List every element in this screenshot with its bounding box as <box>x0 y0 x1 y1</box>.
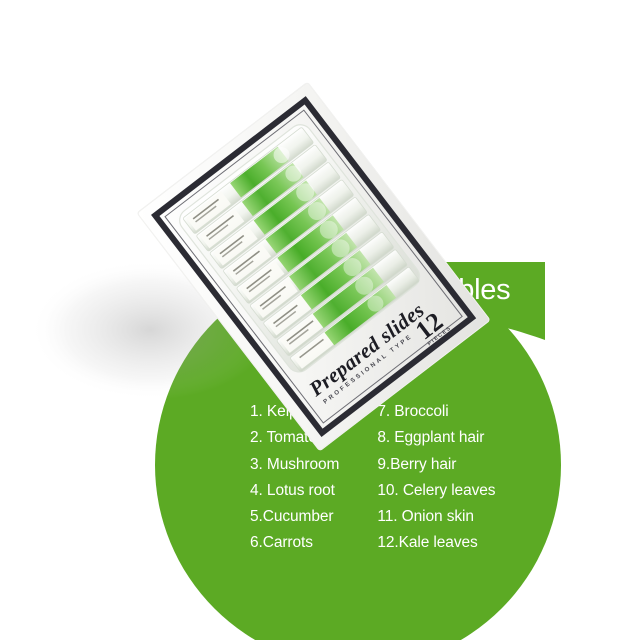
list-item: 3. Mushroom <box>250 452 339 478</box>
list-item: 11. Onion skin <box>377 504 495 530</box>
list-item: 4. Lotus root <box>250 478 339 504</box>
product-image: vegetables 1. Kelp 2. Tomato 3. Mushroom… <box>0 0 640 640</box>
page-title: vegetables <box>373 272 553 308</box>
contents-list: 1. Kelp 2. Tomato 3. Mushroom 4. Lotus r… <box>250 399 560 557</box>
list-item: 6.Carrots <box>250 530 339 556</box>
list-item: 5.Cucumber <box>250 504 339 530</box>
list-item: 8. Eggplant hair <box>377 425 495 451</box>
list-item: 7. Broccoli <box>377 399 495 425</box>
list-item: 12.Kale leaves <box>377 530 495 556</box>
list-item: 1. Kelp <box>250 399 339 425</box>
list-item: 10. Celery leaves <box>377 478 495 504</box>
contents-column-left: 1. Kelp 2. Tomato 3. Mushroom 4. Lotus r… <box>250 399 339 557</box>
list-item: 2. Tomato <box>250 425 339 451</box>
contents-column-right: 7. Broccoli 8. Eggplant hair 9.Berry hai… <box>377 399 495 557</box>
list-item: 9.Berry hair <box>377 452 495 478</box>
